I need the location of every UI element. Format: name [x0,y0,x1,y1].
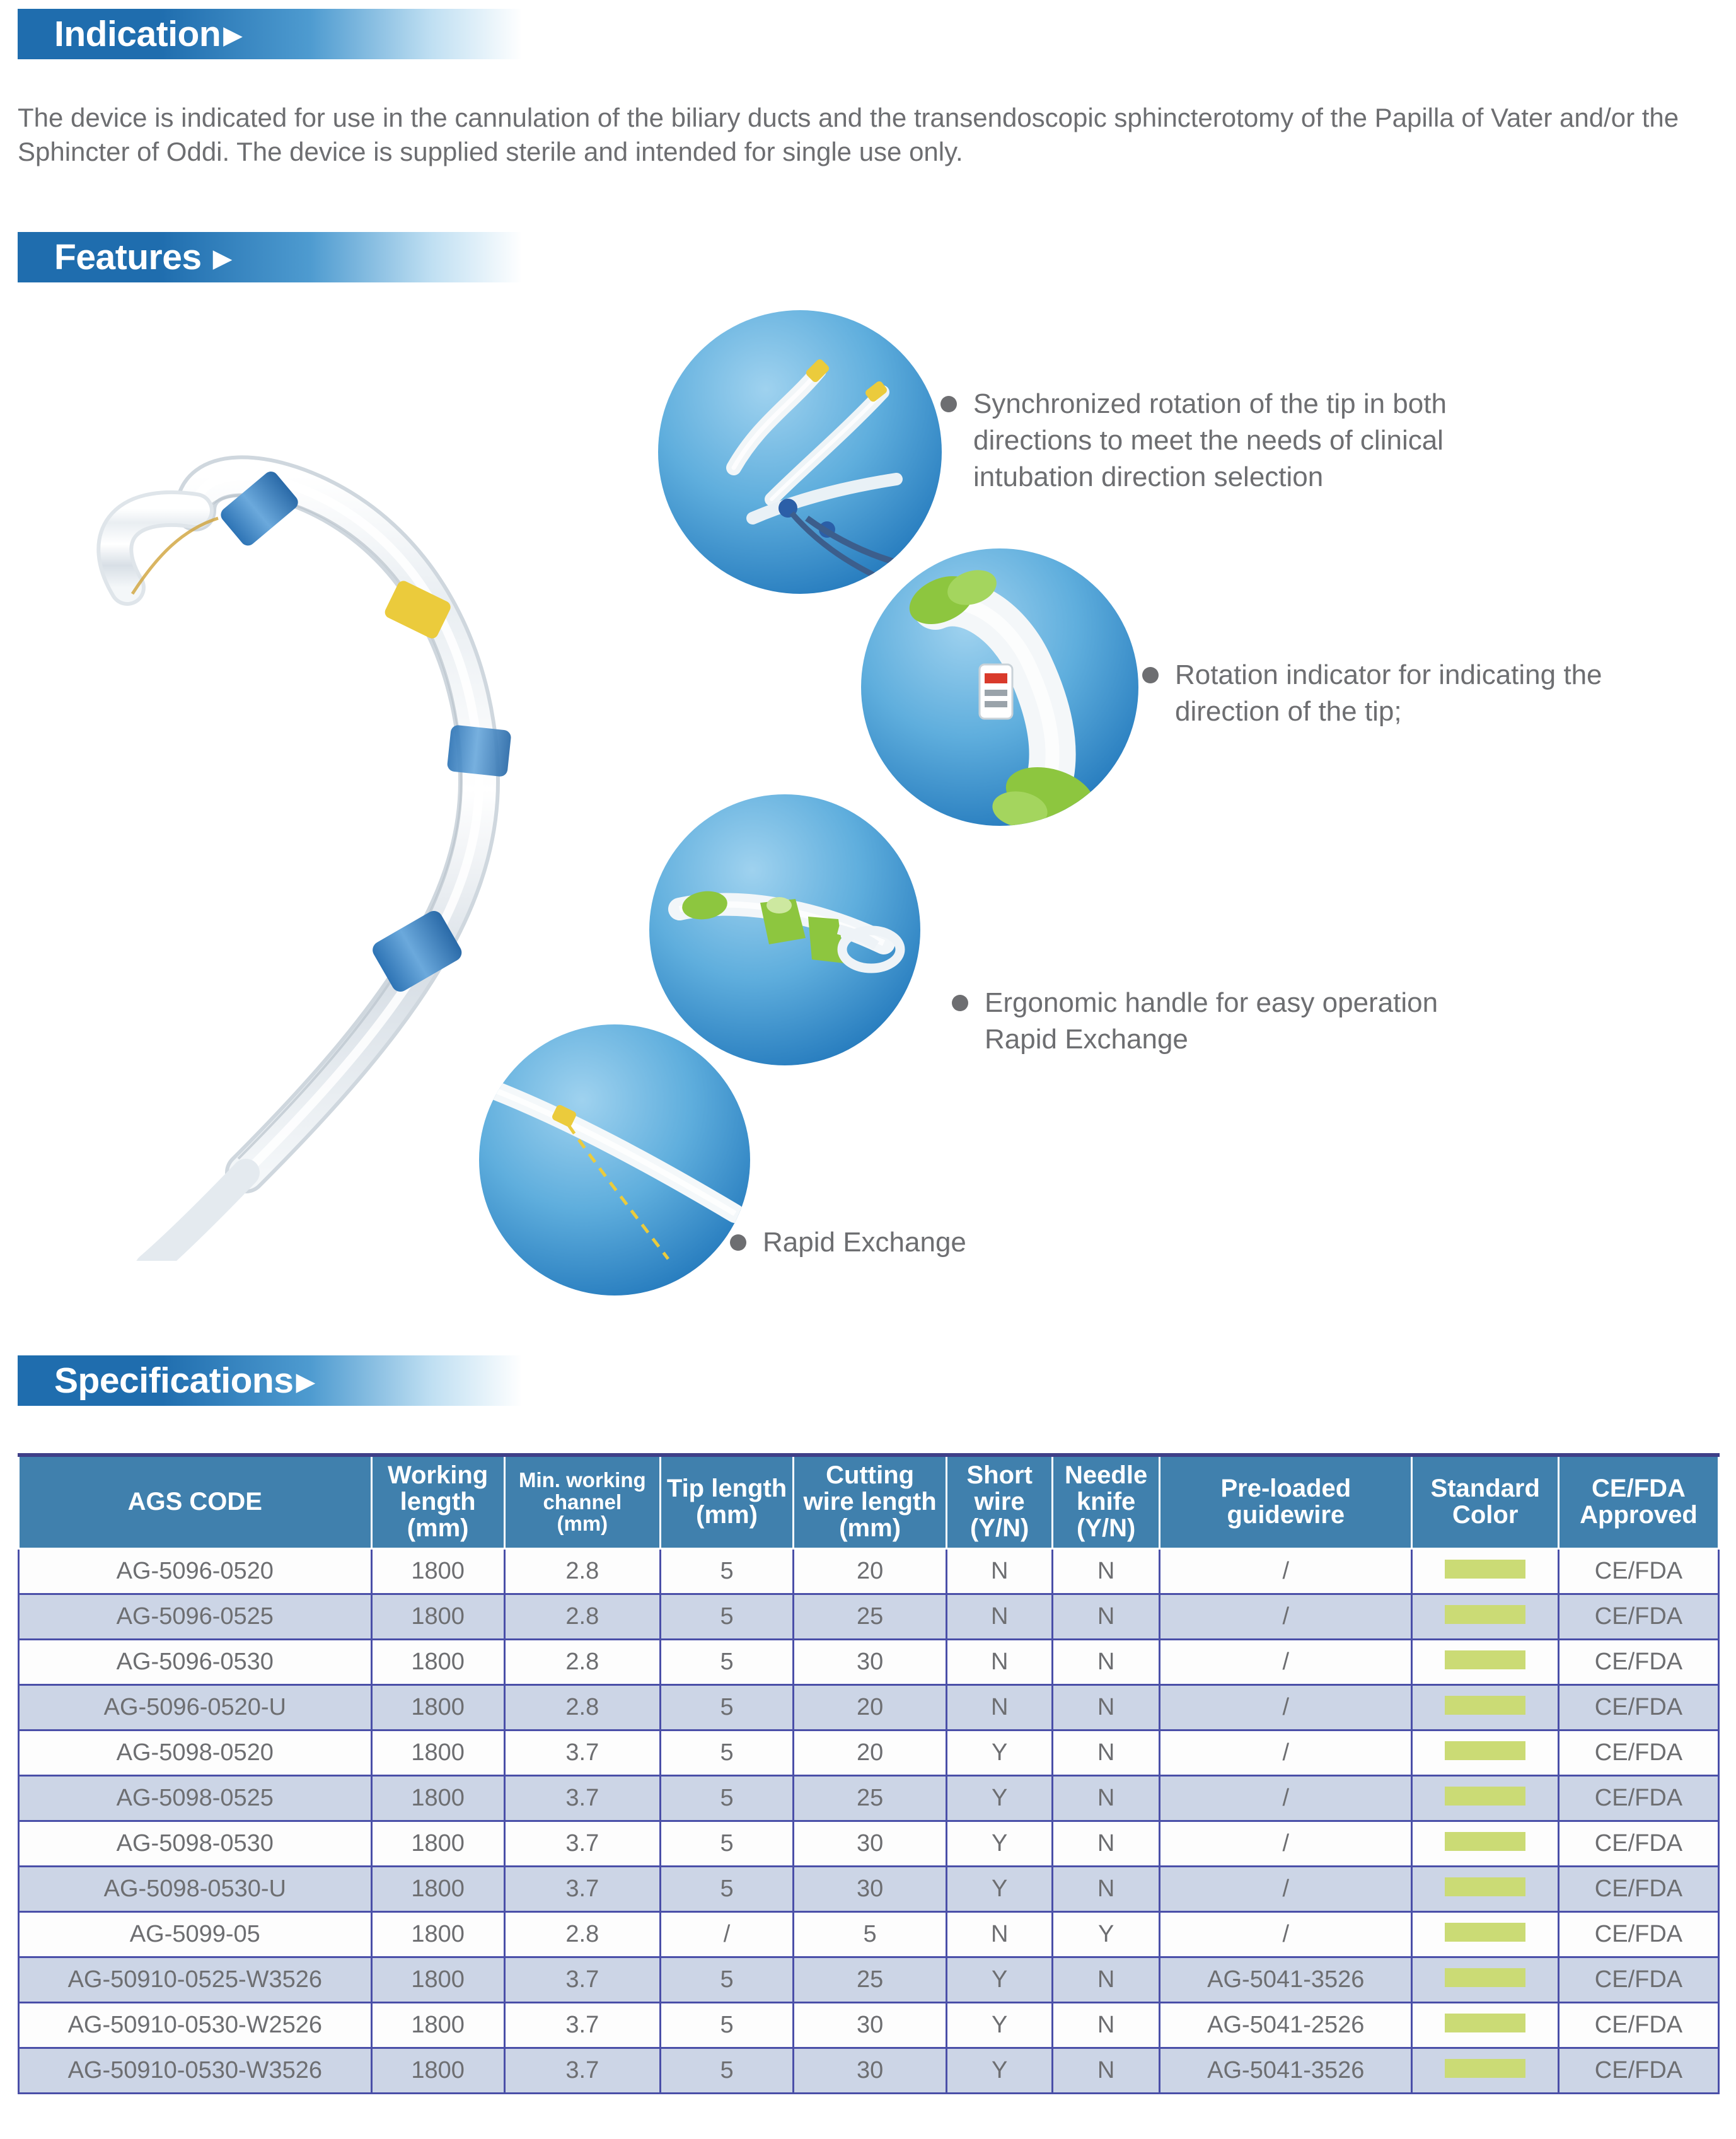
cell-ce-fda: CE/FDA [1558,1730,1718,1775]
cell-ce-fda: CE/FDA [1558,1957,1718,2002]
cell-ags-code: AG-5098-0530-U [19,1866,372,1911]
cell-working-length: 1800 [371,1639,504,1684]
bullet-dot-icon [730,1234,746,1251]
specifications-table: AGS CODE Working length (mm) Min. workin… [18,1453,1720,2094]
features-section-header: Features ▶ [18,232,522,282]
cell-ags-code: AG-5096-0520-U [19,1684,372,1730]
cell-ags-code: AG-5096-0525 [19,1594,372,1639]
cell-cutting-wire: 30 [794,2048,947,2093]
cell-ags-code: AG-5099-05 [19,1911,372,1957]
cell-cutting-wire: 30 [794,1821,947,1866]
cell-guidewire: / [1160,1775,1412,1821]
cell-ce-fda: CE/FDA [1558,1684,1718,1730]
cell-short-wire: Y [947,2048,1053,2093]
cell-guidewire: / [1160,1594,1412,1639]
cell-guidewire: / [1160,1911,1412,1957]
cell-cutting-wire: 25 [794,1594,947,1639]
cell-guidewire: / [1160,1684,1412,1730]
cell-tip-length: 5 [661,1775,794,1821]
cell-guidewire: / [1160,1730,1412,1775]
table-row: AG-5096-0520-U18002.8520NN/CE/FDA [19,1684,1719,1730]
cell-needle-knife: N [1053,2048,1160,2093]
table-row: AG-5098-0530-U18003.7530YN/CE/FDA [19,1866,1719,1911]
cell-tip-length: 5 [661,2002,794,2048]
color-swatch-icon [1445,1923,1525,1942]
features-content: Synchronized rotation of the tip in both… [0,296,1736,1318]
cell-needle-knife: N [1053,1730,1160,1775]
table-row: AG-5096-052018002.8520NN/CE/FDA [19,1548,1719,1594]
cell-cutting-wire: 30 [794,1639,947,1684]
cell-short-wire: Y [947,1775,1053,1821]
column-header-needle-knife: Needle knife (Y/N) [1053,1455,1160,1548]
cell-working-length: 1800 [371,1957,504,2002]
cell-working-length: 1800 [371,2048,504,2093]
cell-ags-code: AG-50910-0525-W3526 [19,1957,372,2002]
table-row: AG-5096-053018002.8530NN/CE/FDA [19,1639,1719,1684]
cell-cutting-wire: 20 [794,1730,947,1775]
feature-bullet-1: Synchronized rotation of the tip in both… [940,386,1634,496]
table-row: AG-5096-052518002.8525NN/CE/FDA [19,1594,1719,1639]
cell-guidewire: AG-5041-3526 [1160,2048,1412,2093]
cell-short-wire: N [947,1594,1053,1639]
cell-short-wire: Y [947,1730,1053,1775]
cell-cutting-wire: 5 [794,1911,947,1957]
cell-ce-fda: CE/FDA [1558,1775,1718,1821]
cell-tip-length: 5 [661,1821,794,1866]
cell-working-length: 1800 [371,1911,504,1957]
cell-ce-fda: CE/FDA [1558,1911,1718,1957]
cell-needle-knife: Y [1053,1911,1160,1957]
cell-cutting-wire: 20 [794,1548,947,1594]
cell-working-length: 1800 [371,1730,504,1775]
cell-working-length: 1800 [371,1866,504,1911]
column-header-cutting-wire-length: Cutting wire length (mm) [794,1455,947,1548]
feature-photo-ergonomic-handle [649,794,920,1065]
feature-bullet-2-text: Rotation indicator for indicating the di… [1175,657,1602,730]
cell-standard-color [1412,1639,1558,1684]
indication-body-text: The device is indicated for use in the c… [18,101,1732,169]
cell-needle-knife: N [1053,1639,1160,1684]
cell-standard-color [1412,1866,1558,1911]
cell-ags-code: AG-50910-0530-W2526 [19,2002,372,2048]
cell-ags-code: AG-5096-0530 [19,1639,372,1684]
cell-tip-length: 5 [661,1730,794,1775]
cell-ce-fda: CE/FDA [1558,2048,1718,2093]
cell-ags-code: AG-50910-0530-W3526 [19,2048,372,2093]
features-title: Features [54,236,202,278]
cell-ags-code: AG-5096-0520 [19,1548,372,1594]
cell-needle-knife: N [1053,1866,1160,1911]
table-row: AG-5099-0518002.8/5NY/CE/FDA [19,1911,1719,1957]
cell-guidewire: AG-5041-2526 [1160,2002,1412,2048]
cell-standard-color [1412,2048,1558,2093]
cell-working-length: 1800 [371,2002,504,2048]
cell-short-wire: N [947,1911,1053,1957]
bullet-dot-icon [1142,667,1159,683]
cell-guidewire: AG-5041-3526 [1160,1957,1412,2002]
cell-working-length: 1800 [371,1821,504,1866]
table-row: AG-50910-0530-W352618003.7530YNAG-5041-3… [19,2048,1719,2093]
cell-min-channel: 3.7 [504,1821,661,1866]
cell-min-channel: 3.7 [504,1957,661,2002]
cell-standard-color [1412,1957,1558,2002]
feature-bullet-3-text: Ergonomic handle for easy operation Rapi… [985,985,1438,1058]
cell-min-channel: 3.7 [504,1730,661,1775]
cell-tip-length: 5 [661,1684,794,1730]
cell-tip-length: 5 [661,1594,794,1639]
color-swatch-icon [1445,2059,1525,2078]
column-header-ags-code: AGS CODE [19,1455,372,1548]
cell-standard-color [1412,1775,1558,1821]
table-row: AG-5098-053018003.7530YN/CE/FDA [19,1821,1719,1866]
feature-bullet-3: Ergonomic handle for easy operation Rapi… [952,985,1645,1058]
chevron-right-icon: ▶ [213,246,233,271]
cell-needle-knife: N [1053,1957,1160,2002]
cell-cutting-wire: 25 [794,1957,947,2002]
table-row: AG-50910-0530-W252618003.7530YNAG-5041-2… [19,2002,1719,2048]
column-header-min-working-channel: Min. working channel (mm) [504,1455,661,1548]
column-header-ce-fda-approved: CE/FDA Approved [1558,1455,1718,1548]
color-swatch-icon [1445,1877,1525,1896]
cell-min-channel: 2.8 [504,1594,661,1639]
cell-tip-length: 5 [661,1957,794,2002]
column-header-standard-color: Standard Color [1412,1455,1558,1548]
indication-title: Indication [54,13,221,55]
color-swatch-icon [1445,1832,1525,1851]
cell-min-channel: 3.7 [504,1866,661,1911]
cell-ce-fda: CE/FDA [1558,1866,1718,1911]
cell-short-wire: Y [947,1957,1053,2002]
feature-photo-tip-rotation [658,310,942,594]
feature-photo-rapid-exchange [479,1024,750,1296]
cell-tip-length: 5 [661,1548,794,1594]
cell-guidewire: / [1160,1866,1412,1911]
chevron-right-icon: ▶ [296,1369,315,1394]
column-header-working-length: Working length (mm) [371,1455,504,1548]
cell-short-wire: N [947,1639,1053,1684]
cell-standard-color [1412,1594,1558,1639]
cell-working-length: 1800 [371,1594,504,1639]
cell-needle-knife: N [1053,2002,1160,2048]
cell-tip-length: 5 [661,2048,794,2093]
bullet-dot-icon [952,995,968,1011]
cell-ce-fda: CE/FDA [1558,2002,1718,2048]
color-swatch-icon [1445,1696,1525,1715]
cell-tip-length: 5 [661,1639,794,1684]
feature-photo-rotation-indicator [861,548,1138,826]
cell-ags-code: AG-5098-0530 [19,1821,372,1866]
cell-needle-knife: N [1053,1821,1160,1866]
cell-needle-knife: N [1053,1775,1160,1821]
cell-min-channel: 2.8 [504,1684,661,1730]
indication-section-header: Indication ▶ [18,9,522,59]
cell-min-channel: 3.7 [504,1775,661,1821]
cell-working-length: 1800 [371,1775,504,1821]
bullet-dot-icon [940,396,957,412]
cell-short-wire: Y [947,1821,1053,1866]
table-row: AG-50910-0525-W352618003.7525YNAG-5041-3… [19,1957,1719,2002]
color-swatch-icon [1445,1560,1525,1579]
cell-guidewire: / [1160,1821,1412,1866]
table-row: AG-5098-052518003.7525YN/CE/FDA [19,1775,1719,1821]
cell-ce-fda: CE/FDA [1558,1821,1718,1866]
cell-needle-knife: N [1053,1684,1160,1730]
table-row: AG-5098-052018003.7520YN/CE/FDA [19,1730,1719,1775]
column-header-tip-length: Tip length (mm) [661,1455,794,1548]
cell-working-length: 1800 [371,1684,504,1730]
cell-short-wire: N [947,1548,1053,1594]
cell-cutting-wire: 20 [794,1684,947,1730]
cell-ce-fda: CE/FDA [1558,1548,1718,1594]
feature-bullet-4: Rapid Exchange [730,1224,1423,1261]
cell-cutting-wire: 30 [794,1866,947,1911]
feature-bullet-4-text: Rapid Exchange [763,1224,966,1261]
cell-tip-length: / [661,1911,794,1957]
cell-min-channel: 3.7 [504,2002,661,2048]
cell-ags-code: AG-5098-0525 [19,1775,372,1821]
cell-working-length: 1800 [371,1548,504,1594]
cell-short-wire: N [947,1684,1053,1730]
color-swatch-icon [1445,1605,1525,1624]
feature-bullet-1-text: Synchronized rotation of the tip in both… [973,386,1447,496]
cell-needle-knife: N [1053,1594,1160,1639]
cell-min-channel: 3.7 [504,2048,661,2093]
table-header-row: AGS CODE Working length (mm) Min. workin… [19,1455,1719,1548]
cell-standard-color [1412,1911,1558,1957]
column-header-preloaded-guidewire: Pre-loaded guidewire [1160,1455,1412,1548]
cell-short-wire: Y [947,1866,1053,1911]
cell-cutting-wire: 30 [794,2002,947,2048]
color-swatch-icon [1445,1787,1525,1806]
feature-bullet-2: Rotation indicator for indicating the di… [1142,657,1736,730]
color-swatch-icon [1445,1968,1525,1987]
cell-min-channel: 2.8 [504,1639,661,1684]
cell-needle-knife: N [1053,1548,1160,1594]
cell-min-channel: 2.8 [504,1548,661,1594]
cell-short-wire: Y [947,2002,1053,2048]
chevron-right-icon: ▶ [223,23,243,48]
specifications-section-header: Specifications ▶ [18,1355,522,1406]
cell-standard-color [1412,1730,1558,1775]
cell-cutting-wire: 25 [794,1775,947,1821]
cell-ags-code: AG-5098-0520 [19,1730,372,1775]
cell-standard-color [1412,2002,1558,2048]
cell-tip-length: 5 [661,1866,794,1911]
cell-standard-color [1412,1684,1558,1730]
cell-guidewire: / [1160,1548,1412,1594]
cell-guidewire: / [1160,1639,1412,1684]
specifications-title: Specifications [54,1360,293,1401]
cell-ce-fda: CE/FDA [1558,1594,1718,1639]
color-swatch-icon [1445,1650,1525,1669]
column-header-short-wire: Short wire (Y/N) [947,1455,1053,1548]
cell-standard-color [1412,1821,1558,1866]
cell-standard-color [1412,1548,1558,1594]
cell-min-channel: 2.8 [504,1911,661,1957]
cell-ce-fda: CE/FDA [1558,1639,1718,1684]
color-swatch-icon [1445,1741,1525,1760]
color-swatch-icon [1445,2014,1525,2032]
